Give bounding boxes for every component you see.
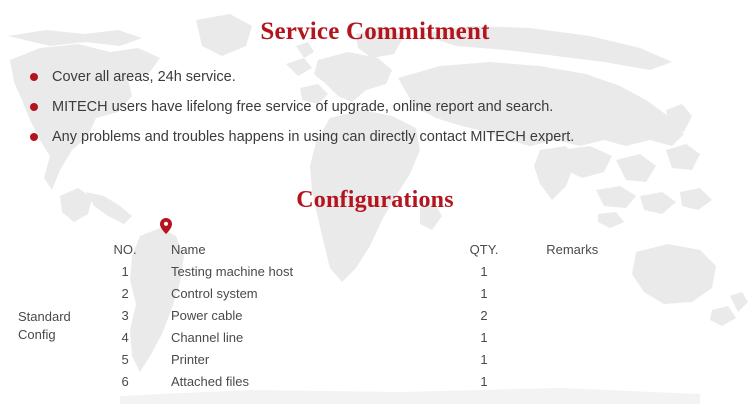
cell-remarks [538, 260, 740, 282]
standard-config-label: Standard Config [10, 260, 87, 392]
cell-remarks [538, 282, 740, 304]
list-item-text: Cover all areas, 24h service. [52, 69, 236, 85]
list-item: Any problems and troubles happens in usi… [28, 128, 728, 146]
table-row: 6 Attached files 1 [10, 370, 740, 392]
map-pin-icon [160, 218, 172, 234]
cell-remarks [538, 326, 740, 348]
cell-no: 3 [87, 304, 163, 326]
standard-config-label-line1: Standard [18, 308, 87, 326]
service-commitment-list: Cover all areas, 24h service. MITECH use… [28, 68, 728, 158]
bullet-dot-icon [30, 133, 38, 141]
table-row: 3 Power cable 2 [10, 304, 740, 326]
cell-qty: 2 [430, 304, 538, 326]
cell-name: Channel line [163, 326, 430, 348]
table-row: 4 Channel line 1 [10, 326, 740, 348]
list-item-text: MITECH users have lifelong free service … [52, 99, 553, 115]
configurations-table: NO. Name QTY. Remarks Standard Config 1 … [10, 238, 740, 392]
service-commitment-title: Service Commitment [0, 0, 750, 44]
cell-name: Control system [163, 282, 430, 304]
cell-qty: 1 [430, 326, 538, 348]
table-header-row: NO. Name QTY. Remarks [10, 238, 740, 260]
table-row: 5 Printer 1 [10, 348, 740, 370]
configurations-title: Configurations [0, 188, 750, 212]
column-header-remarks: Remarks [538, 238, 740, 260]
cell-remarks [538, 370, 740, 392]
cell-remarks [538, 304, 740, 326]
column-header-qty: QTY. [430, 238, 538, 260]
cell-name: Attached files [163, 370, 430, 392]
bullet-dot-icon [30, 73, 38, 81]
column-header-standard [10, 238, 87, 260]
cell-no: 4 [87, 326, 163, 348]
bullet-dot-icon [30, 103, 38, 111]
cell-qty: 1 [430, 348, 538, 370]
standard-config-label-line2: Config [18, 326, 87, 344]
cell-name: Printer [163, 348, 430, 370]
configurations-table-wrapper: NO. Name QTY. Remarks Standard Config 1 … [10, 238, 740, 392]
cell-no: 5 [87, 348, 163, 370]
list-item: Cover all areas, 24h service. [28, 68, 728, 86]
cell-no: 2 [87, 282, 163, 304]
cell-name: Power cable [163, 304, 430, 326]
list-item-text: Any problems and troubles happens in usi… [52, 129, 574, 145]
cell-qty: 1 [430, 370, 538, 392]
table-row: 2 Control system 1 [10, 282, 740, 304]
cell-qty: 1 [430, 260, 538, 282]
cell-qty: 1 [430, 282, 538, 304]
cell-name: Testing machine host [163, 260, 430, 282]
cell-no: 1 [87, 260, 163, 282]
column-header-no: NO. [87, 238, 163, 260]
table-row: Standard Config 1 Testing machine host 1 [10, 260, 740, 282]
column-header-name: Name [163, 238, 430, 260]
list-item: MITECH users have lifelong free service … [28, 98, 728, 116]
cell-no: 6 [87, 370, 163, 392]
cell-remarks [538, 348, 740, 370]
